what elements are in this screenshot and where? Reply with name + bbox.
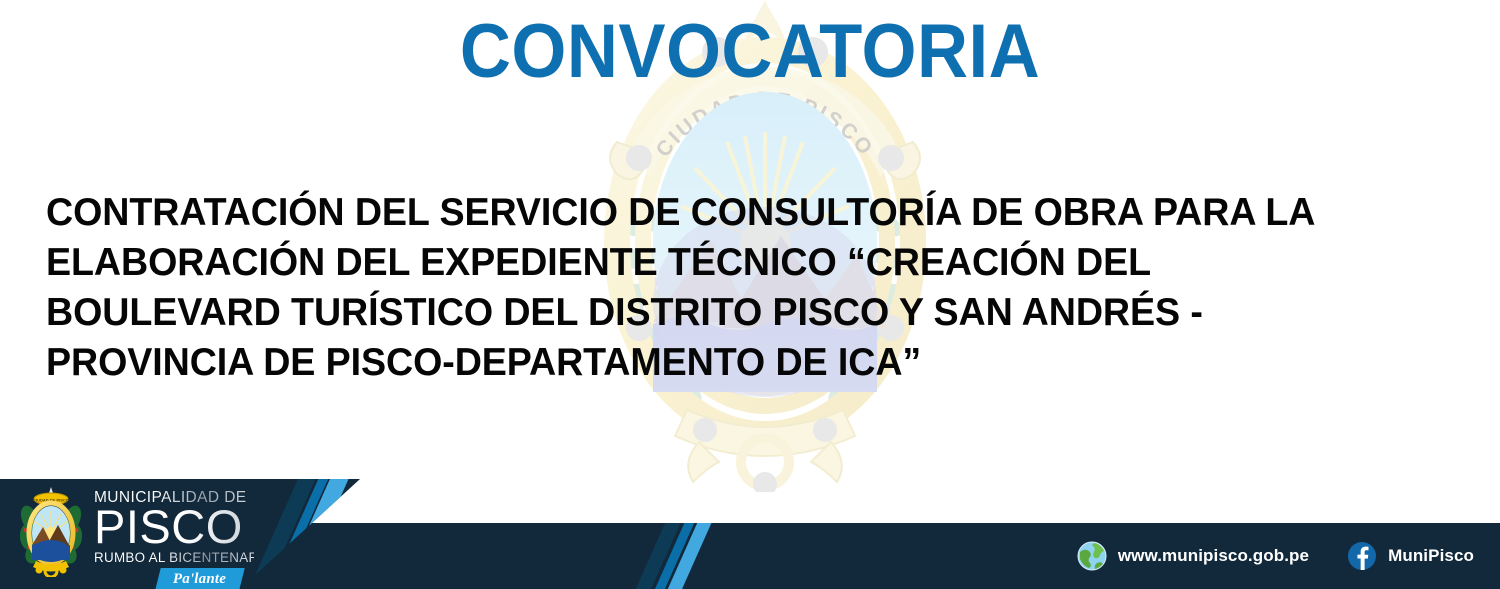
headline-line-1: CONTRATACIÓN DEL SERVICIO DE CONSULTORÍA… [46,188,1436,238]
palante-badge-label: Pa'lante [173,571,226,588]
pisco-coat-of-arms: CIUDAD DE PISCO [18,485,84,577]
facebook-label: MuniPisco [1388,546,1474,566]
palante-badge: Pa'lante [155,568,244,589]
municipality-logo: CIUDAD DE PISCO [18,485,258,581]
footer-contacts: www.munipisco.gob.pe MuniPisco [1077,523,1474,589]
contact-website[interactable]: www.munipisco.gob.pe [1077,541,1309,571]
watermark-banner-text: CIUDAD DE PISCO [652,88,879,161]
facebook-icon [1347,541,1377,571]
logo-line-pisco: PISCO [94,504,254,549]
page-title: CONVOCATORIA [53,14,1448,90]
headline-line-2: ELABORACIÓN DEL EXPEDIENTE TÉCNICO “CREA… [46,238,1436,288]
website-label: www.munipisco.gob.pe [1118,546,1309,566]
convocatoria-banner: CIUDAD DE PISCO [0,0,1500,589]
headline-line-3: BOULEVARD TURÍSTICO DEL DISTRITO PISCO Y… [46,288,1436,338]
logo-line-bicentenario: RUMBO AL BICENTENARIO [94,550,254,565]
headline-line-4: PROVINCIA DE PISCO-DEPARTAMENTO DE ICA” [46,338,1436,388]
svg-text:CIUDAD DE PISCO: CIUDAD DE PISCO [652,88,879,161]
globe-icon [1077,541,1107,571]
headline-text: CONTRATACIÓN DEL SERVICIO DE CONSULTORÍA… [46,188,1436,388]
contact-facebook[interactable]: MuniPisco [1347,541,1474,571]
